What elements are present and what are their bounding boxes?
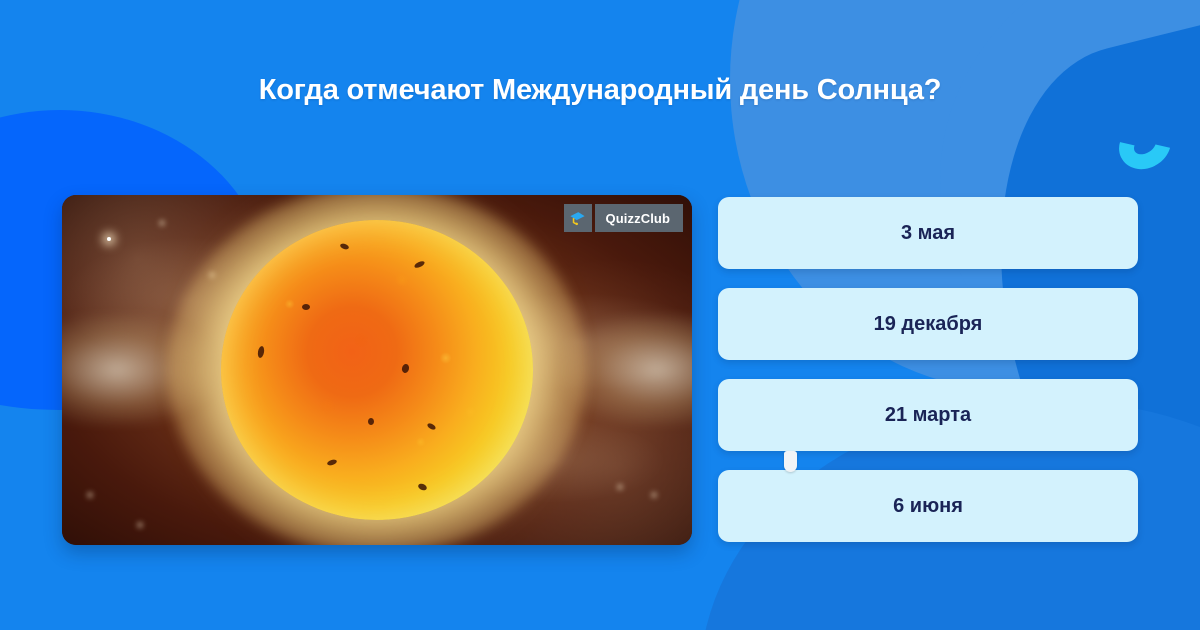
watermark-label: QuizzClub bbox=[595, 204, 683, 232]
answer-option-1[interactable]: 3 мая bbox=[718, 197, 1138, 269]
sun-granulation bbox=[221, 220, 533, 520]
question-image: QuizzClub bbox=[62, 195, 692, 545]
answer-options-list: 3 мая 19 декабря 21 марта 6 июня bbox=[718, 197, 1138, 542]
sun-disc bbox=[221, 220, 533, 520]
answer-option-4[interactable]: 6 июня bbox=[718, 470, 1138, 542]
watermark-badge: QuizzClub bbox=[564, 204, 683, 232]
answer-option-1-label: 3 мая bbox=[901, 222, 955, 245]
answer-option-3-label: 21 марта bbox=[885, 404, 971, 427]
answer-option-3[interactable]: 21 марта bbox=[718, 379, 1138, 451]
answer-option-2[interactable]: 19 декабря bbox=[718, 288, 1138, 360]
answer-option-4-label: 6 июня bbox=[893, 495, 963, 518]
sunspot bbox=[368, 418, 374, 425]
answer-option-2-label: 19 декабря bbox=[874, 313, 983, 336]
option-marker-tab bbox=[784, 451, 797, 472]
graduation-cap-icon bbox=[564, 204, 592, 232]
star bbox=[107, 237, 111, 241]
question-title: Когда отмечают Международный день Солнца… bbox=[0, 74, 1200, 107]
